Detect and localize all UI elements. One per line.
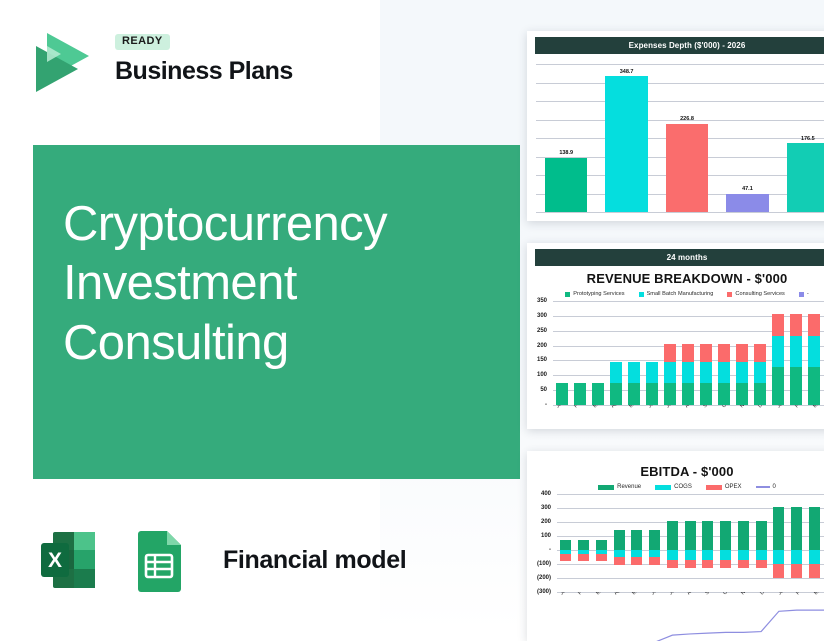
bar-segment: [736, 362, 747, 383]
y-tick-label: 300: [537, 313, 547, 319]
stack-column: [571, 301, 589, 405]
stacked-bar: [700, 344, 711, 405]
legend-swatch: [639, 292, 644, 297]
x-tick-label: May-26: [628, 405, 644, 409]
svg-text:X: X: [48, 549, 62, 572]
x-tick: Jun-26: [648, 592, 666, 616]
x-tick-label: Oct-26: [721, 405, 737, 409]
revenue-chart-title: REVENUE BREAKDOWN - $'000: [527, 271, 824, 286]
x-tick-label: Dec-26: [757, 405, 773, 409]
bar-segment: [718, 383, 729, 405]
bar-segment: [682, 344, 693, 362]
x-tick: Mar-26: [593, 592, 611, 616]
x-tick: Dec-26: [757, 592, 775, 616]
bar: [605, 76, 647, 212]
x-tick-label: Jan-27: [776, 405, 792, 409]
bar-segment: [700, 344, 711, 362]
brand-name: Business Plans: [115, 57, 293, 86]
x-tick: Oct-26: [720, 592, 738, 616]
x-tick-label: Jan-26: [555, 405, 571, 409]
brand-text: READY Business Plans: [115, 31, 293, 86]
x-tick-label: Feb-27: [795, 592, 811, 596]
bar-segment: [808, 367, 819, 405]
x-tick: Jul-26: [666, 592, 684, 616]
stack-column: [715, 301, 733, 405]
y-tick-label: 50: [540, 387, 547, 393]
bar-segment: [718, 362, 729, 383]
x-tick-label: Apr-26: [613, 592, 629, 596]
x-tick-label: Jan-27: [777, 592, 793, 596]
revenue-x-axis: Jan-26Feb-26Mar-26Apr-26May-26Jun-26Jul-…: [553, 405, 824, 429]
bar-segment: [610, 383, 621, 405]
y-tick-label: -: [549, 547, 551, 553]
x-tick-label: Oct-26: [722, 592, 738, 596]
bar-column: 138.9: [536, 64, 596, 212]
expenses-plot-area: 138.9348.7226.847.1176.5: [536, 64, 824, 212]
x-tick-label: Mar-27: [812, 405, 824, 409]
x-tick: Aug-26: [684, 592, 702, 616]
y-tick-label: 200: [541, 519, 551, 525]
bar: [666, 124, 708, 212]
bar-segment: [736, 344, 747, 362]
bar-segment: [772, 336, 783, 367]
google-sheets-icon: [121, 522, 197, 598]
revenue-bars: [553, 301, 824, 405]
file-format-row: X Financial model: [33, 522, 406, 598]
stacked-bar: [718, 344, 729, 405]
x-tick-label: Feb-27: [794, 405, 810, 409]
chart-card-ebitda: EBITDA - $'000 RevenueCOGSOPEX0 40030020…: [527, 451, 824, 641]
x-tick-label: Jun-26: [647, 405, 663, 409]
stacked-bar: [754, 344, 765, 405]
x-tick: Sep-26: [700, 405, 718, 429]
y-tick-label: 350: [537, 298, 547, 304]
bar-segment: [610, 362, 621, 383]
x-tick-label: Mar-26: [592, 405, 608, 409]
x-tick-label: Jul-26: [665, 405, 681, 409]
stacked-bar: [808, 314, 819, 405]
bar-column: 348.7: [596, 64, 656, 212]
x-tick-label: Mar-26: [595, 592, 611, 596]
bar: [726, 194, 768, 212]
bar-segment: [790, 336, 801, 367]
x-tick: May-26: [626, 405, 645, 429]
legend-swatch: [727, 292, 732, 297]
bar-segment: [718, 344, 729, 362]
stacked-bar: [628, 362, 639, 405]
stack-column: [643, 301, 661, 405]
bar-segment: [628, 383, 639, 405]
ebitda-zero-line: [557, 494, 824, 641]
bar-segment: [790, 367, 801, 405]
chart-card-revenue: 24 months REVENUE BREAKDOWN - $'000 Prot…: [527, 243, 824, 429]
bar-segment: [772, 367, 783, 405]
bar-segment: [628, 362, 639, 383]
revenue-plot-area: [553, 301, 824, 405]
ebitda-x-axis: Jan-26Feb-26Mar-26Apr-26May-26Jun-26Jul-…: [557, 592, 824, 616]
y-tick-label: 400: [541, 491, 551, 497]
y-tick-label: (200): [537, 575, 551, 581]
x-tick: Jul-26: [663, 405, 681, 429]
stack-column: [787, 301, 805, 405]
stack-column: [733, 301, 751, 405]
bar-column: 47.1: [717, 64, 777, 212]
bar-segment: [682, 383, 693, 405]
bar-segment: [664, 344, 675, 362]
x-tick: Jan-26: [557, 592, 575, 616]
stacked-bar: [646, 362, 657, 405]
x-tick: Feb-27: [793, 592, 811, 616]
ebitda-y-axis: 400300200100-(100)(200)(300): [527, 494, 553, 592]
x-tick: Mar-26: [590, 405, 608, 429]
x-tick-label: Nov-26: [739, 405, 755, 409]
x-tick: May-26: [629, 592, 648, 616]
bar: [545, 158, 587, 212]
x-tick-label: Sep-26: [704, 592, 720, 596]
bar-segment: [754, 362, 765, 383]
stack-column: [625, 301, 643, 405]
stack-column: [769, 301, 787, 405]
y-tick-label: 300: [541, 505, 551, 511]
x-tick-label: Feb-26: [577, 592, 593, 596]
bar-segment: [754, 344, 765, 362]
hero-panel: Cryptocurrency Investment Consulting: [33, 145, 520, 479]
ready-badge: READY: [115, 34, 170, 51]
stacked-bar: [664, 344, 675, 405]
x-tick: Mar-27: [811, 592, 824, 616]
stack-column: [697, 301, 715, 405]
x-tick-label: May-26: [631, 592, 647, 596]
bar-value-label: 47.1: [742, 186, 753, 192]
bar-segment: [754, 383, 765, 405]
x-tick: Jan-27: [775, 592, 793, 616]
y-tick-label: 150: [537, 357, 547, 363]
stack-column: [589, 301, 607, 405]
y-tick-label: 100: [541, 533, 551, 539]
x-tick: Nov-26: [738, 592, 756, 616]
x-tick-label: Dec-26: [759, 592, 775, 596]
excel-icon: X: [33, 522, 109, 598]
x-tick: Sep-26: [702, 592, 720, 616]
x-tick: Aug-26: [682, 405, 700, 429]
bar-segment: [808, 314, 819, 336]
x-tick: Apr-26: [608, 405, 626, 429]
x-tick-label: Nov-26: [740, 592, 756, 596]
y-tick-label: 250: [537, 328, 547, 334]
y-tick-label: (100): [537, 561, 551, 567]
bar-segment: [736, 383, 747, 405]
bar-segment: [700, 362, 711, 383]
stacked-bar: [610, 362, 621, 405]
stacked-bar: [574, 383, 585, 405]
revenue-chart-banner: 24 months: [535, 249, 824, 266]
stack-column: [661, 301, 679, 405]
x-tick: Feb-26: [571, 405, 589, 429]
stacked-bar: [772, 314, 783, 405]
stack-column: [805, 301, 823, 405]
stack-column: [679, 301, 697, 405]
brand-logo: READY Business Plans: [27, 26, 357, 98]
legend-swatch: [799, 292, 804, 297]
x-tick: Jan-26: [553, 405, 571, 429]
x-tick: Oct-26: [719, 405, 737, 429]
files-label: Financial model: [223, 546, 406, 575]
ebitda-chart-title: EBITDA - $'000: [527, 464, 824, 479]
y-tick-label: 100: [537, 372, 547, 378]
x-tick: Feb-27: [792, 405, 810, 429]
x-tick-label: Jan-26: [559, 592, 575, 596]
stack-column: [607, 301, 625, 405]
ebitda-plot-area: [557, 494, 824, 592]
bar-segment: [682, 362, 693, 383]
bar-column: 176.5: [778, 64, 824, 212]
x-tick-label: Sep-26: [702, 405, 718, 409]
bar: [787, 143, 824, 212]
stacked-bar: [592, 383, 603, 405]
x-tick: Apr-26: [611, 592, 629, 616]
y-tick-label: -: [545, 402, 547, 408]
bar-segment: [790, 314, 801, 336]
bar-segment: [772, 314, 783, 336]
x-tick-label: Aug-26: [684, 405, 700, 409]
expenses-bars: 138.9348.7226.847.1176.5: [536, 64, 824, 212]
bar-value-label: 348.7: [620, 69, 634, 75]
y-tick-label: (300): [537, 589, 551, 595]
bar-value-label: 138.9: [559, 150, 573, 156]
bar-column: 226.8: [657, 64, 717, 212]
bar-segment: [664, 383, 675, 405]
stack-column: [553, 301, 571, 405]
x-tick-label: Jul-26: [668, 592, 684, 596]
x-tick-label: Apr-26: [610, 405, 626, 409]
x-tick: Feb-26: [575, 592, 593, 616]
stack-column: [751, 301, 769, 405]
bar-value-label: 226.8: [680, 116, 694, 122]
stacked-bar: [682, 344, 693, 405]
y-tick-label: 200: [537, 343, 547, 349]
stacked-bar: [790, 314, 801, 405]
x-tick-label: Feb-26: [573, 405, 589, 409]
x-tick: Dec-26: [755, 405, 773, 429]
play-triangle-logo-icon: [27, 26, 97, 96]
bar-segment: [664, 362, 675, 383]
page-title: Cryptocurrency Investment Consulting: [63, 195, 493, 373]
x-tick: Mar-27: [810, 405, 824, 429]
legend-swatch: [598, 485, 614, 490]
bar-segment: [556, 383, 567, 405]
x-tick: Nov-26: [737, 405, 755, 429]
stacked-bar: [556, 383, 567, 405]
x-tick-label: Mar-27: [813, 592, 824, 596]
legend-swatch: [706, 485, 722, 490]
bar-segment: [700, 383, 711, 405]
x-tick-label: Jun-26: [650, 592, 666, 596]
legend-swatch: [756, 486, 770, 488]
gridline: [536, 212, 824, 213]
bar-segment: [592, 383, 603, 405]
bar-segment: [808, 336, 819, 367]
legend-swatch: [565, 292, 570, 297]
bar-value-label: 176.5: [801, 136, 815, 142]
expenses-chart-title: Expenses Depth ($'000) - 2026: [535, 37, 824, 54]
bar-segment: [646, 383, 657, 405]
x-tick: Jan-27: [774, 405, 792, 429]
stacked-bar: [736, 344, 747, 405]
x-tick: Jun-26: [645, 405, 663, 429]
x-tick-label: Aug-26: [686, 592, 702, 596]
chart-card-expenses: Expenses Depth ($'000) - 2026 138.9348.7…: [527, 31, 824, 221]
revenue-y-axis: 35030025020015010050-: [527, 301, 549, 405]
bar-segment: [646, 362, 657, 383]
bar-segment: [574, 383, 585, 405]
legend-swatch: [655, 485, 671, 490]
